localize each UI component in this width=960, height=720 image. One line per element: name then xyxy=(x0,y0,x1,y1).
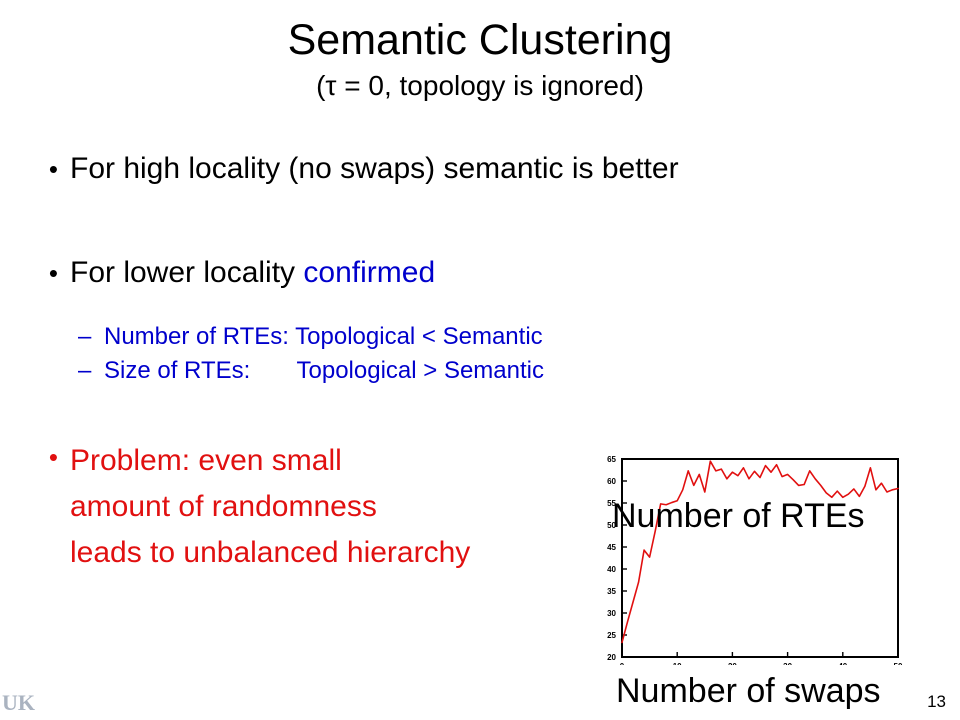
y-tick-label: 30 xyxy=(607,609,616,618)
page-subtitle: (τ = 0, topology is ignored) xyxy=(0,68,960,104)
sub-bullet-item-1: – Number of RTEs: Topological < Semantic xyxy=(78,320,960,354)
bullet-item-1: • For high locality (no swaps) semantic … xyxy=(20,150,960,188)
x-tick-label: 0 xyxy=(620,662,625,665)
rtes-line-chart: 2025303540455055606501020304050 xyxy=(592,450,912,665)
page-title: Semantic Clustering xyxy=(0,16,960,64)
chart-x-axis-title: Number of swaps xyxy=(616,673,881,709)
spacer-2 xyxy=(0,292,960,320)
bullet-marker-icon: • xyxy=(20,150,70,188)
slide-title-block: Semantic Clustering (τ = 0, topology is … xyxy=(0,16,960,104)
y-tick-label: 20 xyxy=(607,653,616,662)
chart-plot-frame xyxy=(622,459,898,657)
uk-logo: UK xyxy=(2,690,35,716)
chart-series-line xyxy=(622,461,898,642)
x-tick-label: 20 xyxy=(728,662,737,665)
spacer-1 xyxy=(0,188,960,254)
sub-bullet-item-1-label: Number of RTEs: Topological < Semantic xyxy=(104,320,543,354)
x-tick-label: 40 xyxy=(838,662,847,665)
x-tick-label: 30 xyxy=(783,662,792,665)
y-tick-label: 45 xyxy=(607,543,616,552)
x-tick-label: 50 xyxy=(894,662,903,665)
y-tick-label: 40 xyxy=(607,565,616,574)
sub-bullet-item-2-label: Size of RTEs: Topological > Semantic xyxy=(104,354,544,388)
y-tick-label: 35 xyxy=(607,587,616,596)
bullet-item-1-label: For high locality (no swaps) semantic is… xyxy=(70,150,679,188)
bullet-item-2: • For lower locality confirmed xyxy=(20,254,960,292)
y-tick-label: 65 xyxy=(607,455,616,464)
sub-bullet-marker-icon: – xyxy=(78,320,104,354)
bullet-marker-icon: • xyxy=(20,438,70,476)
sub-bullet-item-2: – Size of RTEs: Topological > Semantic xyxy=(78,354,960,388)
sub-bullet-marker-icon: – xyxy=(78,354,104,388)
bullet-item-3-line-1: Problem: even small xyxy=(70,438,342,484)
y-tick-label: 25 xyxy=(607,631,616,640)
page-number: 13 xyxy=(927,692,946,712)
bullet-item-2-label: For lower locality confirmed xyxy=(70,254,435,292)
bullet-item-2-label-blue: confirmed xyxy=(303,256,435,289)
y-tick-label: 60 xyxy=(607,477,616,486)
chart-overlay-title: Number of RTEs xyxy=(612,498,865,534)
bullet-item-2-label-black: For lower locality xyxy=(70,256,303,289)
bullet-marker-icon: • xyxy=(20,254,70,292)
x-tick-label: 10 xyxy=(673,662,682,665)
chart-canvas: 2025303540455055606501020304050 xyxy=(592,450,912,665)
spacer-3 xyxy=(0,388,960,438)
